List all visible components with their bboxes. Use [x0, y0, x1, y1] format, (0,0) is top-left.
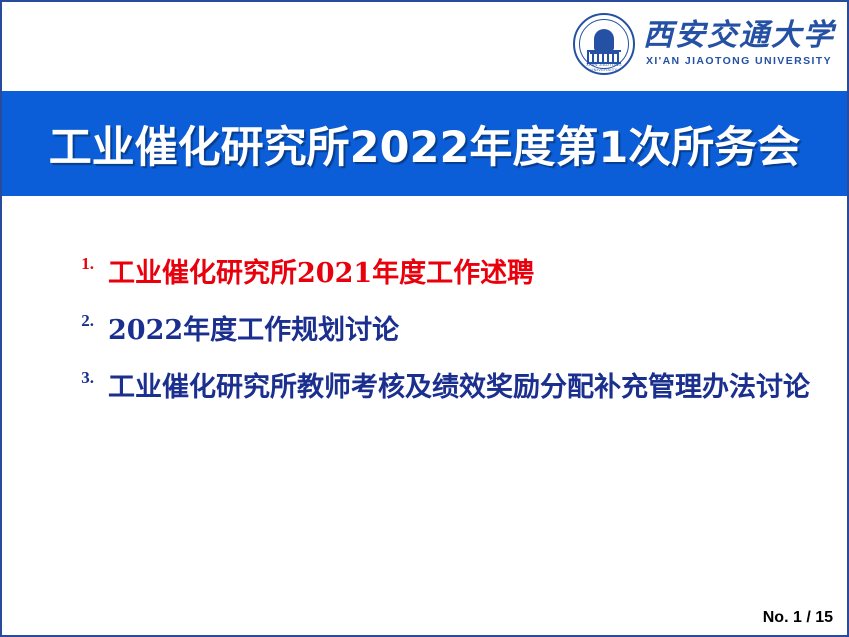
list-item-label: 工业催化研究所教师考核及绩效奖励分配补充管理办法讨论	[108, 368, 810, 407]
slide: XI'AN JIAOTONG UNIVERSITY 西安交通大学 XI'AN J…	[0, 0, 849, 637]
seal-ring-text: XI'AN JIAOTONG UNIVERSITY	[575, 62, 633, 72]
list-item: 3. 工业催化研究所教师考核及绩效奖励分配补充管理办法讨论	[64, 368, 824, 407]
seal-bell-icon	[594, 29, 614, 51]
agenda-list: 1. 工业催化研究所2021年度工作述聘 2. 2022年度工作规划讨论 3. …	[64, 254, 824, 425]
list-item-number: 2.	[64, 311, 108, 331]
list-item-number: 3.	[64, 368, 108, 388]
page-title: 工业催化研究所2022年度第1次所务会	[49, 113, 801, 175]
university-name-en: XI'AN JIAOTONG UNIVERSITY	[646, 56, 832, 67]
university-name-cn: 西安交通大学	[643, 21, 835, 51]
list-item: 2. 2022年度工作规划讨论	[64, 311, 824, 350]
list-item: 1. 工业催化研究所2021年度工作述聘	[64, 254, 824, 293]
slide-title-band: 工业催化研究所2022年度第1次所务会	[2, 91, 847, 196]
university-logo: XI'AN JIAOTONG UNIVERSITY 西安交通大学 XI'AN J…	[573, 8, 835, 80]
list-item-label: 2022年度工作规划讨论	[108, 311, 399, 350]
list-item-number: 1.	[64, 254, 108, 274]
university-seal-icon: XI'AN JIAOTONG UNIVERSITY	[573, 13, 635, 75]
page-number: No. 1 / 15	[763, 609, 833, 627]
list-item-label: 工业催化研究所2021年度工作述聘	[108, 254, 534, 293]
university-wordmark: 西安交通大学 XI'AN JIAOTONG UNIVERSITY	[643, 21, 835, 67]
